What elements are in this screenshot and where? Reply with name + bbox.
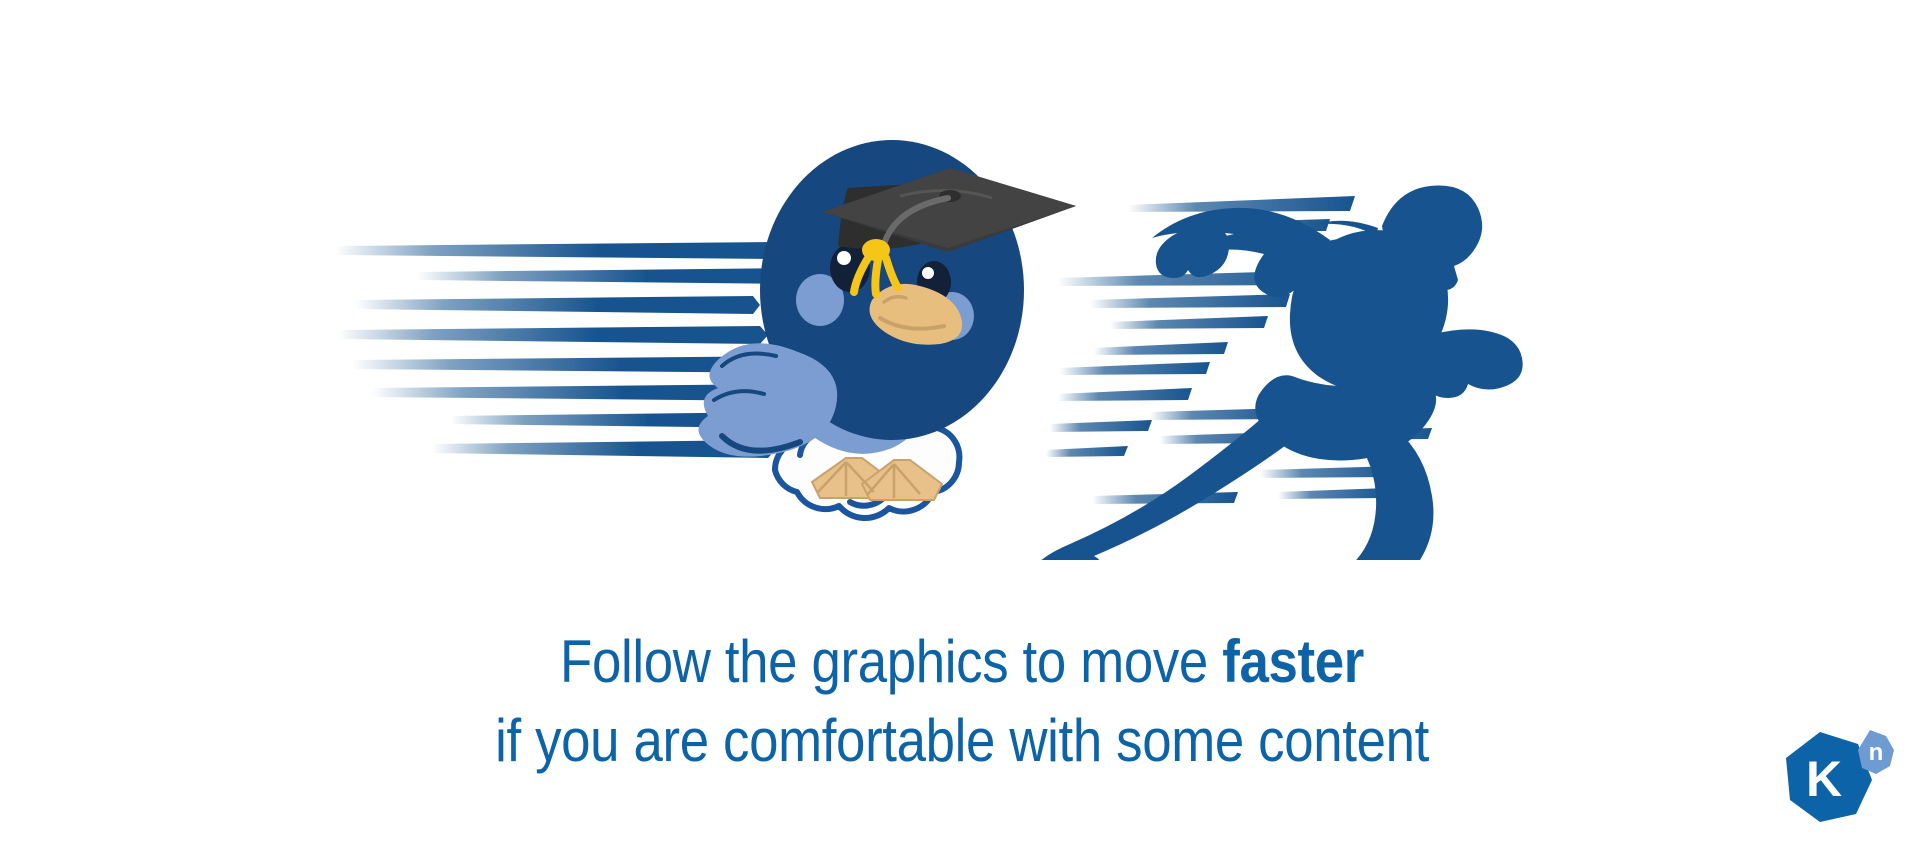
artwork-illustration [0,0,1924,560]
slide-canvas: Follow the graphics to move faster if yo… [0,0,1924,852]
caption-line-2: if you are comfortable with some content [115,707,1808,774]
caption-block: Follow the graphics to move faster if yo… [0,628,1924,774]
caption-line-1: Follow the graphics to move faster [115,628,1808,695]
sprinting-runner-figure [971,185,1523,560]
logo-letter-n: n [1869,739,1884,766]
caption-line-1-prefix: Follow the graphics to move [560,628,1222,695]
logo-secondary-heptagon: n [1858,730,1894,774]
caption-emphasis-faster: faster [1222,628,1364,695]
brand-logo[interactable]: K n [1776,724,1900,836]
logo-letter-k: K [1806,751,1842,807]
logo-primary-heptagon: K [1786,732,1872,822]
